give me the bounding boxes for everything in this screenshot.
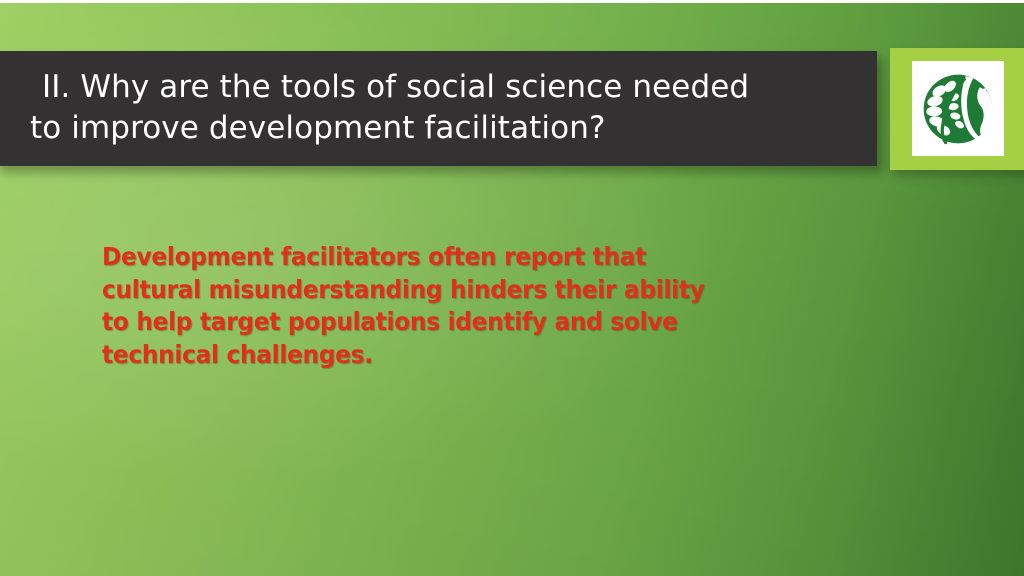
leaf-globe-logo-icon bbox=[919, 70, 997, 148]
page-title-line-1: II. Why are the tools of social science … bbox=[42, 67, 749, 108]
page-title: II. Why are the tools of social science … bbox=[0, 67, 763, 149]
page-title-line-2: to improve development facilitation? bbox=[30, 108, 749, 149]
logo-panel bbox=[890, 48, 1024, 170]
slide-title-bar: II. Why are the tools of social science … bbox=[0, 51, 877, 166]
body-paragraph: Development facilitators often report th… bbox=[102, 241, 837, 371]
logo-plate bbox=[912, 61, 1004, 156]
slide-body: Development facilitators often report th… bbox=[102, 241, 892, 371]
body-line-3: to help target populations identify and … bbox=[102, 306, 837, 339]
body-line-2: cultural misunderstanding hinders their … bbox=[102, 274, 837, 307]
body-line-1: Development facilitators often report th… bbox=[102, 241, 837, 274]
presentation-slide: II. Why are the tools of social science … bbox=[0, 0, 1024, 576]
body-line-4: technical challenges. bbox=[102, 339, 837, 372]
